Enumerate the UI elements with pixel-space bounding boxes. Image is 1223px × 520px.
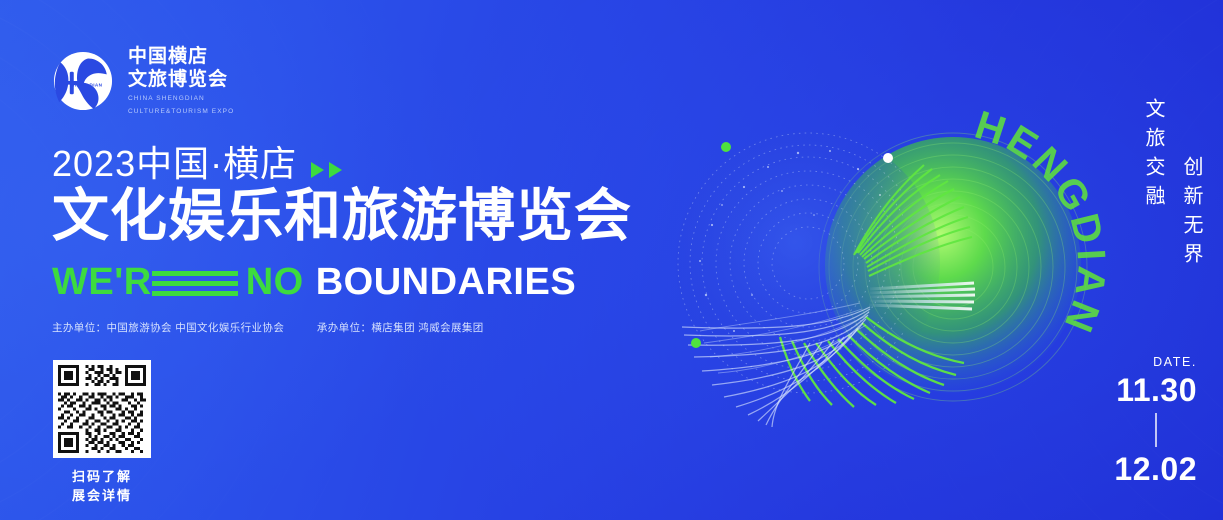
date-separator <box>1155 413 1157 447</box>
qr-caption: 扫码了解 展会详情 <box>53 468 151 506</box>
date-end: 12.02 <box>1077 452 1197 488</box>
tagline-green-part2: NO <box>246 261 304 304</box>
tagline: WE'R NO BOUNDARIES <box>52 261 672 304</box>
tagline-green-part1: WE'R <box>52 261 152 304</box>
headline-block: 2023中国·横店 文化娱乐和旅游博览会 WE'R NO BOUNDARIES … <box>52 145 672 335</box>
double-play-arrow-icon <box>311 162 342 178</box>
logo-name-line2: 文旅博览会 <box>128 68 234 91</box>
organizer-line: 主办单位：中国旅游协会 中国文化娱乐行业协会 承办单位：横店集团 鸿威会展集团 <box>52 320 672 335</box>
qr-block[interactable]: 扫码了解 展会详情 <box>53 360 151 506</box>
slogan-column-2: 创新无界 <box>1181 156 1201 272</box>
date-label: DATE. <box>1077 356 1197 369</box>
hengdian-expo-logo-icon: HENG DIAN <box>50 48 116 114</box>
eyebrow-text: 2023中国·横店 <box>52 145 297 183</box>
qr-code-icon[interactable] <box>53 360 151 458</box>
tagline-white-part: BOUNDARIES <box>316 261 576 304</box>
logo-name-line1: 中国横店 <box>128 45 234 68</box>
qr-caption-line1: 扫码了解 <box>53 468 151 487</box>
qr-caption-line2: 展会详情 <box>53 487 151 506</box>
brand-logo[interactable]: HENG DIAN 中国横店 文旅博览会 CHINA SHENGDIAN CUL… <box>50 45 234 117</box>
page-title: 文化娱乐和旅游博览会 <box>52 185 672 249</box>
slogan-column-1: 文旅交融 <box>1143 98 1163 272</box>
logo-name-en-line1: CHINA SHENGDIAN <box>128 94 234 104</box>
host-organizer: 主办单位：中国旅游协会 中国文化娱乐行业协会 <box>52 322 284 334</box>
undertaking-organizer: 承办单位：横店集团 鸿威会展集团 <box>317 322 484 334</box>
stacked-bars-e-icon <box>152 271 238 296</box>
svg-text:HENG DIAN: HENG DIAN <box>73 82 103 87</box>
date-start: 11.30 <box>1077 373 1197 409</box>
eyebrow-row: 2023中国·横店 <box>52 145 672 183</box>
dual-sphere-data-visualization: HENGDIAN <box>648 95 1118 435</box>
event-poster: HENG DIAN 中国横店 文旅博览会 CHINA SHENGDIAN CUL… <box>0 0 1223 520</box>
vertical-slogan: 文旅交融 创新无界 <box>1143 98 1201 272</box>
event-date-block: DATE. 11.30 12.02 <box>1077 356 1197 488</box>
logo-name-en-line2: CULTURE&TOURISM EXPO <box>128 107 234 117</box>
